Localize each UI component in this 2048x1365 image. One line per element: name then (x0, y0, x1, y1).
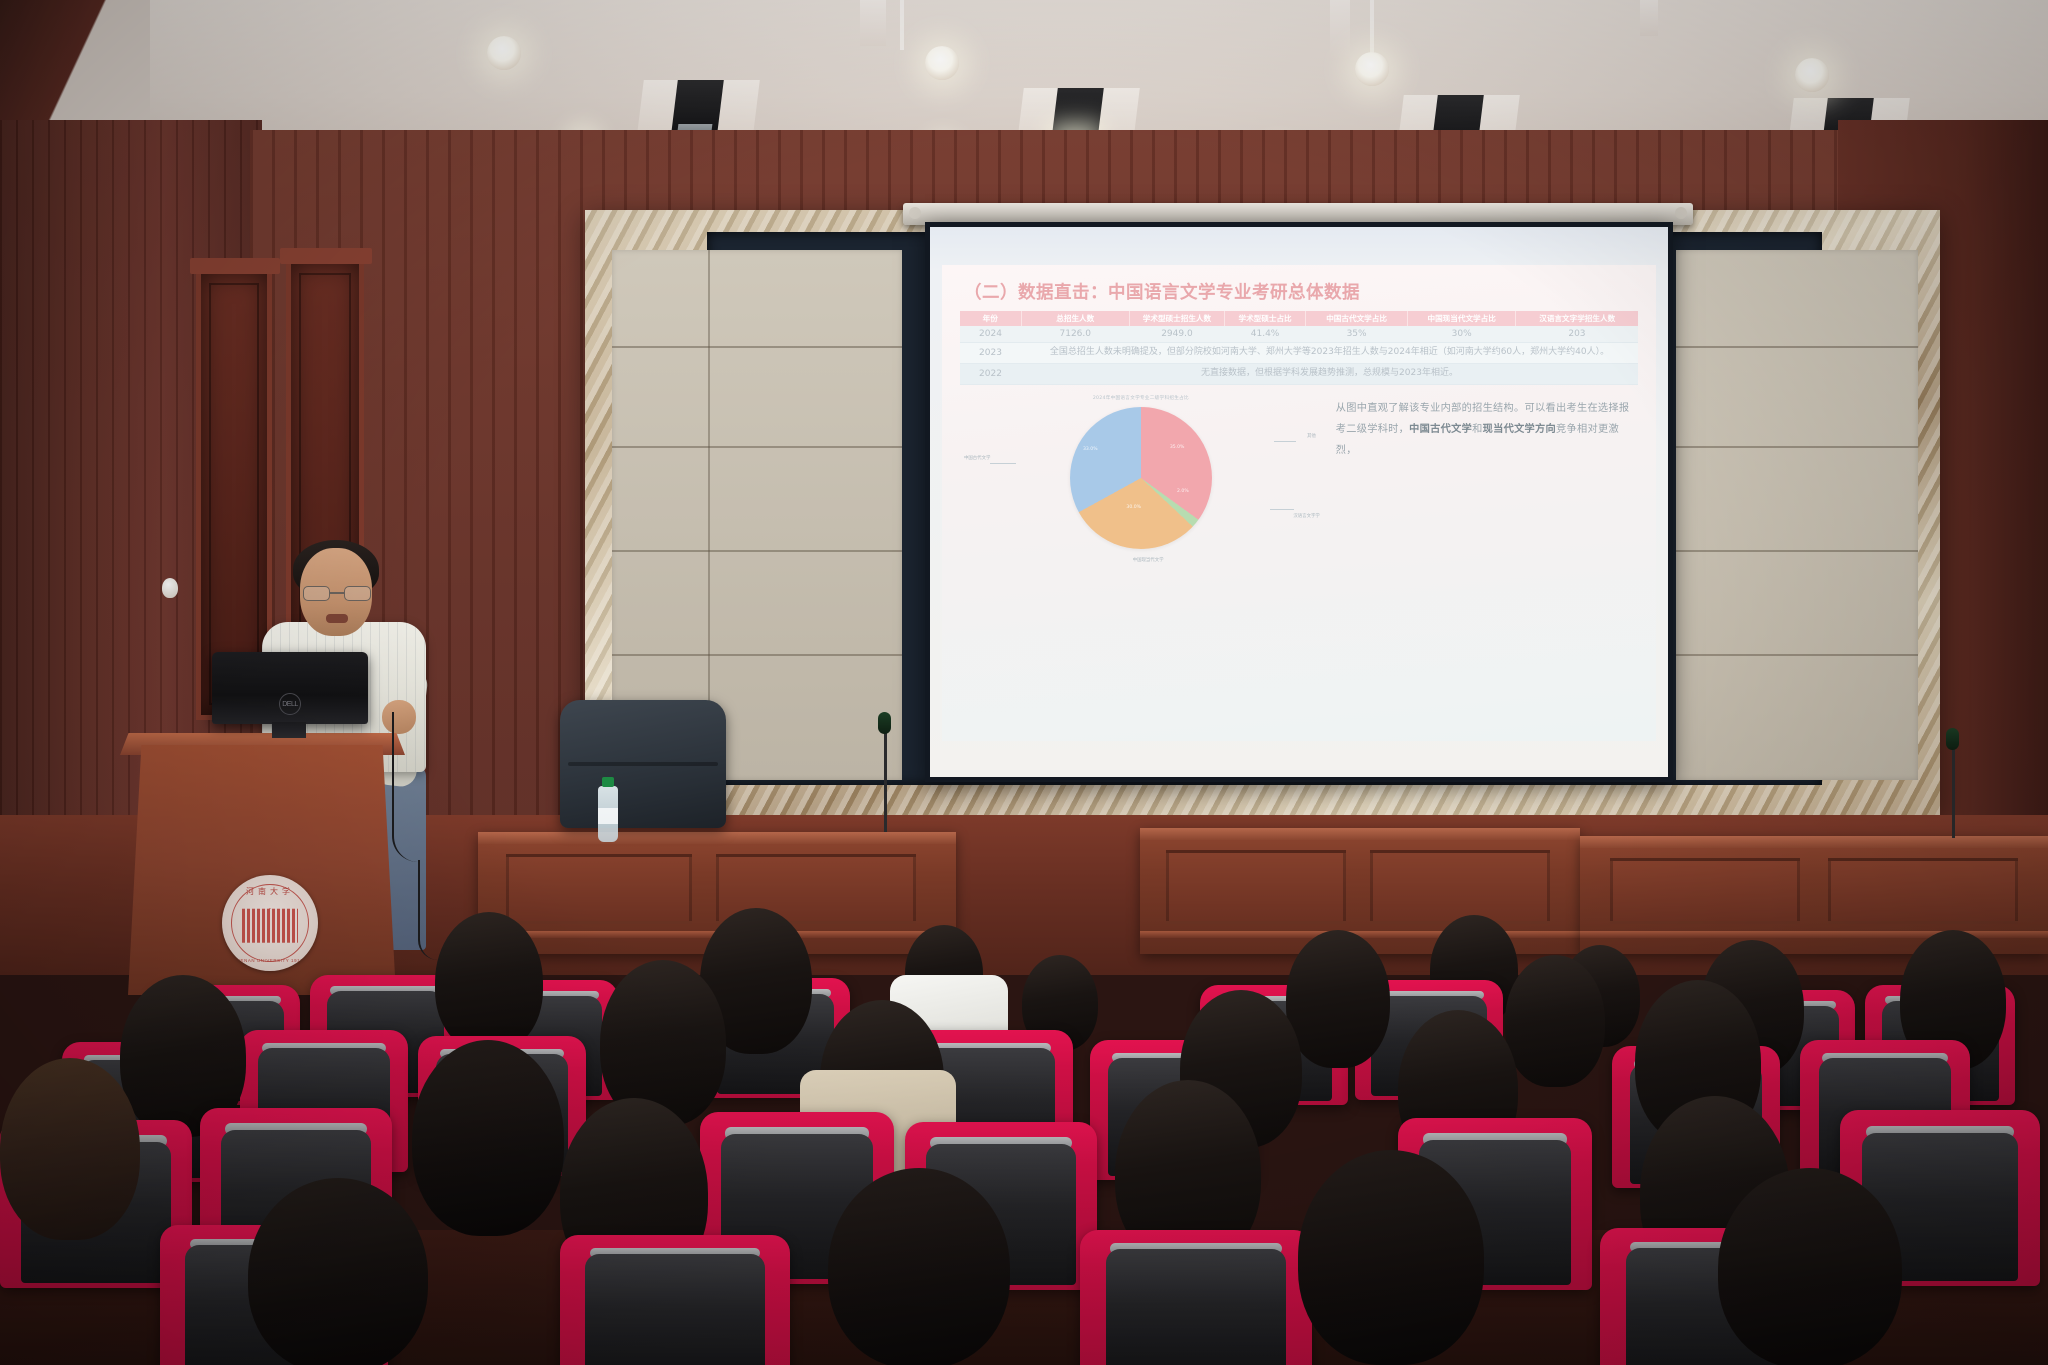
ceiling-ridge (860, 0, 886, 46)
table-row: 2024 7126.0 2949.0 41.4% 35% 30% 203 (960, 326, 1638, 343)
audience-head (1718, 1168, 1902, 1365)
pie-leader-line (990, 463, 1016, 464)
cell-year: 2023 (960, 343, 1021, 364)
body-text-mid: 和 (1472, 424, 1483, 435)
pie-legend-other: 其他 (1307, 433, 1316, 439)
stage-desk-far-right (1580, 836, 2048, 954)
door-header-trim (190, 258, 280, 274)
microphone-head[interactable] (878, 712, 891, 734)
table-row: 2022 无直接数据，但根据学科发展趋势推测，总规模与2023年相近。 (960, 364, 1638, 385)
seal-top-text: 河南大学 (222, 886, 318, 897)
pie-legend-modern-lit: 中国现当代文学 (1133, 557, 1164, 563)
slide-lower-section: 2024年中国语言文学专业二级学科招生占比 中国古代文学 其他 汉语言文字学 中… (960, 393, 1638, 571)
pie-slices (1070, 407, 1212, 549)
table-header-row: 年份 总招生人数 学术型硕士招生人数 学术型硕士占比 中国古代文学占比 中国现当… (960, 311, 1638, 326)
slide-body-text: 从图中直观了解该专业内部的招生结构。可以看出考生在选择报考二级学科时，中国古代文… (1330, 393, 1638, 571)
ceiling-downlight (925, 46, 959, 80)
ceiling-downlight (1795, 58, 1829, 92)
cell-academic-master-ratio: 41.4% (1224, 326, 1305, 343)
cell-modern-lit-ratio: 30% (1407, 326, 1515, 343)
ceiling-downlight (487, 36, 521, 70)
cell-note: 全国总招生人数未明确提及，但部分院校如河南大学、郑州大学等2023年招生人数与2… (1021, 343, 1638, 364)
cell-linguistics-count: 203 (1516, 326, 1638, 343)
floor-cable (418, 860, 438, 960)
table-header-cell: 中国古代文学占比 (1306, 311, 1408, 326)
pie-value-other: 35.0% (1170, 445, 1185, 450)
pie-chart-container: 2024年中国语言文学专业二级学科招生占比 中国古代文学 其他 汉语言文字学 中… (960, 393, 1322, 571)
pie-value-linguistics: 2.0% (1177, 489, 1189, 494)
ceiling-downlight (1355, 52, 1389, 86)
table-header-cell: 汉语言文字学招生人数 (1516, 311, 1638, 326)
computer-monitor[interactable]: DELL (212, 652, 368, 724)
presentation-slide: （二）数据直击：中国语言文学专业考研总体数据 年份 总招生人数 学术型硕士招生人… (942, 265, 1656, 741)
ceiling-ridge (1640, 0, 1658, 36)
slide-title: （二）数据直击：中国语言文学专业考研总体数据 (964, 279, 1638, 304)
data-table: 年份 总招生人数 学术型硕士招生人数 学术型硕士占比 中国古代文学占比 中国现当… (960, 311, 1638, 385)
microphone-stand (1952, 742, 1955, 838)
audience-head (1298, 1150, 1484, 1365)
pie-value-modern-lit: 30.0% (1126, 505, 1141, 510)
pie-leader-line (1274, 441, 1296, 442)
university-seal-emblem: 河南大学 HENAN UNIVERSITY 1912 (222, 875, 318, 971)
body-text-bold-ancient-lit: 中国古代文学 (1409, 424, 1472, 435)
pie-legend-ancient-lit: 中国古代文学 (964, 455, 990, 461)
wall-panel-right (1676, 250, 1918, 780)
audience-head (828, 1168, 1010, 1365)
ceiling-seam (900, 0, 904, 50)
table-header-cell: 年份 (960, 311, 1021, 326)
pie-chart: 中国古代文学 其他 汉语言文字学 中国现当代文学 35.0% 33.0% 30.… (960, 401, 1322, 559)
presenter-mouth (326, 614, 348, 623)
microphone-head[interactable] (1946, 728, 1959, 750)
lecture-hall-scene: （二）数据直击：中国语言文学专业考研总体数据 年份 总招生人数 学术型硕士招生人… (0, 0, 2048, 1365)
ceiling-ridge (1330, 0, 1350, 60)
bottle-cap (602, 777, 614, 787)
body-text-bold-modern-lit: 现当代文学方向 (1483, 424, 1556, 435)
monitor-cable (392, 712, 418, 862)
audience-head (1286, 930, 1390, 1068)
projection-screen: （二）数据直击：中国语言文学专业考研总体数据 年份 总招生人数 学术型硕士招生人… (925, 222, 1673, 782)
cell-year: 2024 (960, 326, 1021, 343)
cell-academic-master-count: 2949.0 (1129, 326, 1224, 343)
pie-value-ancient-lit: 33.0% (1083, 447, 1098, 452)
stage-desk-right (1140, 828, 1580, 954)
table-header-cell: 学术型硕士占比 (1224, 311, 1305, 326)
audience-head (0, 1058, 140, 1240)
pie-legend-linguistics: 汉语言文字学 (1293, 513, 1319, 519)
dell-logo-icon: DELL (279, 693, 301, 715)
bottle-label (598, 808, 618, 824)
cell-note: 无直接数据，但根据学科发展趋势推测，总规模与2023年相近。 (1021, 364, 1638, 385)
audience-head (435, 912, 543, 1052)
audience-head (1505, 955, 1605, 1087)
stage-chair[interactable] (560, 700, 726, 828)
table-row: 2023 全国总招生人数未明确提及，但部分院校如河南大学、郑州大学等2023年招… (960, 343, 1638, 364)
monitor-stand (272, 722, 306, 738)
audience-head (248, 1178, 428, 1365)
door-header-trim (280, 248, 372, 264)
cell-total-enrollment: 7126.0 (1021, 326, 1129, 343)
auditorium-seat[interactable] (560, 1235, 790, 1365)
cell-year: 2022 (960, 364, 1021, 385)
table-header-cell: 总招生人数 (1021, 311, 1129, 326)
audience-head (412, 1040, 564, 1236)
cell-ancient-lit-ratio: 35% (1306, 326, 1408, 343)
presenter-glasses (303, 586, 371, 601)
pie-leader-line (1270, 509, 1294, 510)
seal-bottom-text: HENAN UNIVERSITY 1912 (222, 958, 318, 963)
auditorium-seat[interactable] (1080, 1230, 1312, 1365)
table-header-cell: 中国现当代文学占比 (1407, 311, 1515, 326)
wall-knob (162, 578, 178, 598)
water-bottle[interactable] (598, 786, 618, 842)
table-header-cell: 学术型硕士招生人数 (1129, 311, 1224, 326)
microphone-stand (884, 726, 887, 832)
